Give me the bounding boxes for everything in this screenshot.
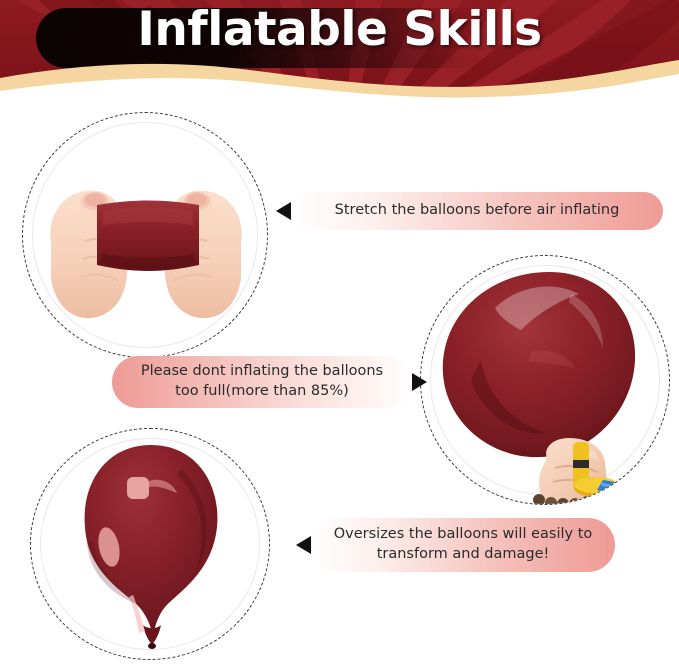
hands-stretching-balloon-illustration: [23, 113, 267, 357]
callout-inflate-line-1: Please dont inflating the balloons: [141, 362, 383, 382]
callout-inflate-line-2: too full(more than 85%): [141, 382, 383, 402]
arrow-left-icon: [296, 536, 311, 554]
page-title: Inflatable Skills: [0, 2, 679, 57]
photo-stretching-balloon: [22, 112, 268, 358]
callout-oversize-pill: Oversizes the balloons will easily to tr…: [311, 518, 615, 572]
pear-shaped-balloon-illustration: [31, 429, 269, 659]
arrow-right-icon: [412, 373, 427, 391]
callout-stretch: Stretch the balloons before air inflatin…: [276, 192, 668, 230]
callout-inflate: Please dont inflating the balloons too f…: [112, 356, 434, 408]
callout-stretch-pill: Stretch the balloons before air inflatin…: [291, 192, 663, 230]
header-banner: Inflatable Skills: [0, 0, 679, 102]
callout-oversize-line-2: transform and damage!: [334, 545, 593, 565]
photo-overinflated-balloon-pump: [420, 255, 670, 505]
callout-inflate-pill: Please dont inflating the balloons too f…: [112, 356, 412, 408]
callout-oversize: Oversizes the balloons will easily to tr…: [296, 518, 620, 572]
banner-wave-divider: [0, 58, 679, 102]
photo-stage: [31, 429, 269, 659]
arrow-left-icon: [276, 202, 291, 220]
hand-pump-balloon-illustration: [421, 256, 669, 504]
callout-oversize-line-1: Oversizes the balloons will easily to: [334, 525, 593, 545]
photo-stage: [421, 256, 669, 504]
photo-stage: [23, 113, 267, 357]
photo-properly-inflated-balloon: [30, 428, 270, 660]
callout-stretch-line-1: Stretch the balloons before air inflatin…: [335, 201, 620, 221]
